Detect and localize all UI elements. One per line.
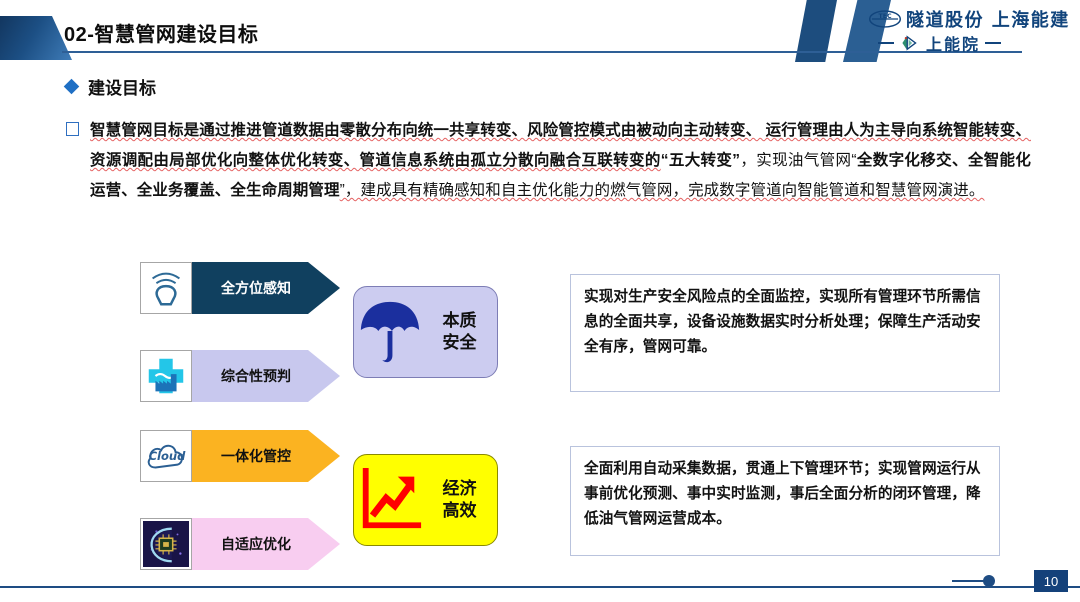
paragraph-segment-2: “五大转变” — [661, 152, 740, 169]
health-factory-icon — [140, 350, 192, 402]
footer-rule — [0, 586, 1080, 588]
svg-text:TEC: TEC — [878, 13, 891, 20]
badge-quanfangwei-ganzhi[interactable]: 全方位感知 — [140, 262, 340, 314]
company-logo: TEC 隧道股份 上海能建 上能院 — [868, 5, 1078, 57]
leaf-shield-icon — [899, 34, 921, 52]
badge-zonghexing-yupan[interactable]: 综合性预判 — [140, 350, 340, 402]
logo-secondary-line: 上能院 — [878, 31, 1001, 55]
logo-dash-right — [985, 42, 1001, 44]
slide-header: 02-智慧管网建设目标 TEC 隧道股份 上海能建 上能院 — [0, 0, 1080, 62]
footer-accent-dot — [983, 575, 995, 587]
goal-paragraph-block: 智慧管网目标是通过推进管道数据由零散分布向统一共享转变、风险管控模式由被动向主动… — [66, 116, 1031, 206]
badge-label: 自适应优化 — [192, 534, 340, 554]
section-subheading: 建设目标 — [66, 74, 156, 99]
svg-text:Cloud: Cloud — [149, 449, 186, 463]
diamond-bullet-icon — [64, 79, 80, 95]
badge-label: 一体化管控 — [192, 446, 340, 466]
logo-dash-left — [878, 42, 894, 44]
tec-icon: TEC — [868, 9, 902, 29]
card-benzhi-anquan[interactable]: 本质安全 — [353, 286, 498, 378]
sensor-bulb-icon — [140, 262, 192, 314]
description-text: 实现对生产安全风险点的全面监控，实现所有管理环节所需信息的全面共享，设备设施数据… — [584, 285, 986, 360]
badge-label: 全方位感知 — [192, 278, 340, 298]
diagram-group-efficiency: Cloud 一体化管控 — [140, 430, 1000, 578]
card-label: 经济高效 — [426, 478, 497, 522]
header-corner-shape — [0, 16, 72, 60]
paragraph-segment-3: ，实现油气管网“ — [740, 152, 857, 169]
section-subheading-label: 建设目标 — [88, 74, 156, 99]
paragraph-segment-5: ”，建成具有精确感知和自主优化能力的燃气管网，完成数字管道向智能管道和智慧管网演… — [340, 182, 985, 199]
logo-company-name: 隧道股份 上海能建 — [906, 6, 1070, 32]
description-box-safety: 实现对生产安全风险点的全面监控，实现所有管理环节所需信息的全面共享，设备设施数据… — [570, 274, 1000, 392]
badge-yitihua-guankong[interactable]: Cloud 一体化管控 — [140, 430, 340, 482]
page-number: 10 — [1034, 570, 1068, 592]
card-label: 本质安全 — [426, 310, 497, 354]
diagram-group-safety: 全方位感知 综合性预判 本质安全 实现 — [140, 262, 1000, 410]
logo-institute-name: 上能院 — [926, 31, 980, 55]
goal-paragraph: 智慧管网目标是通过推进管道数据由零散分布向统一共享转变、风险管控模式由被动向主动… — [90, 116, 1031, 206]
badge-zishiying-youhua[interactable]: 自适应优化 — [140, 518, 340, 570]
cloud-icon: Cloud — [140, 430, 192, 482]
logo-primary-line: TEC 隧道股份 上海能建 — [868, 6, 1070, 32]
umbrella-icon — [354, 295, 426, 369]
description-box-efficiency: 全面利用自动采集数据，贯通上下管理环节；实现管网运行从事前优化预测、事中实时监测… — [570, 446, 1000, 556]
description-text: 全面利用自动采集数据，贯通上下管理环节；实现管网运行从事前优化预测、事中实时监测… — [584, 457, 986, 532]
ai-chip-brain-icon — [140, 518, 192, 570]
square-bullet-icon — [66, 122, 79, 136]
growth-chart-icon — [354, 463, 426, 537]
page-title: 02-智慧管网建设目标 — [64, 18, 258, 47]
badge-label: 综合性预判 — [192, 366, 340, 386]
card-jingji-gaoxiao[interactable]: 经济高效 — [353, 454, 498, 546]
goals-diagram: 全方位感知 综合性预判 本质安全 实现 — [140, 262, 1000, 582]
